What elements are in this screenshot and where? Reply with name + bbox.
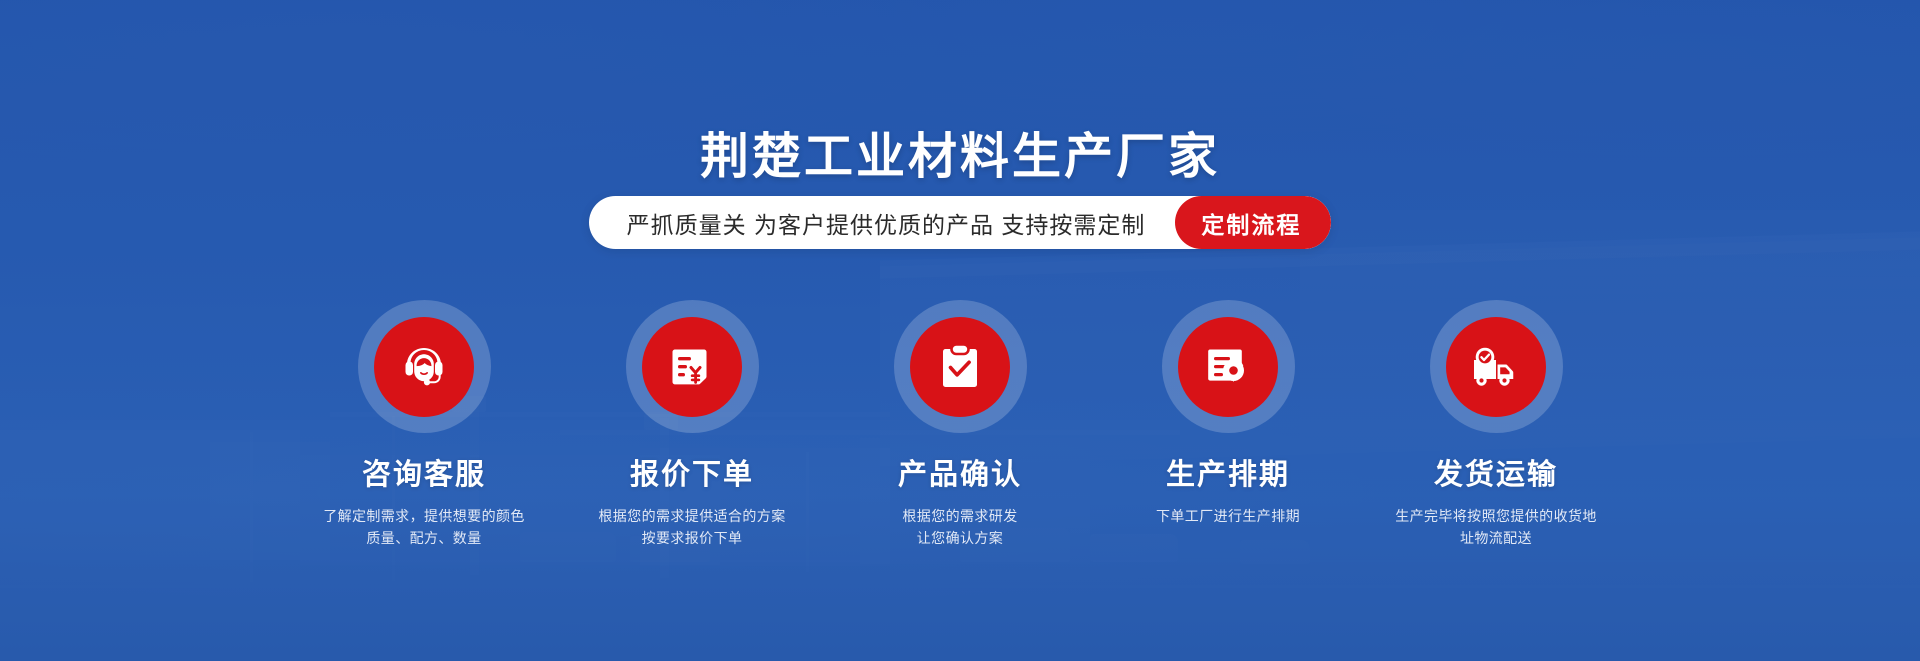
step-item-delivery[interactable]: 发货运输 生产完毕将按照您提供的收货地 址物流配送 xyxy=(1362,300,1630,550)
step-description: 根据您的需求提供适合的方案 按要求报价下单 xyxy=(598,505,785,550)
step-icon-disc xyxy=(642,317,742,417)
step-description-line: 根据您的需求研发 xyxy=(902,505,1017,527)
delivery-truck-check-icon xyxy=(1469,344,1523,390)
custom-process-button[interactable]: 定制流程 xyxy=(1175,196,1331,249)
invoice-yuan-icon xyxy=(667,342,717,392)
step-icon-disc xyxy=(1178,317,1278,417)
step-description: 生产完毕将按照您提供的收货地 址物流配送 xyxy=(1395,505,1597,550)
step-title: 发货运输 xyxy=(1434,460,1558,492)
step-description-line: 根据您的需求提供适合的方案 xyxy=(598,505,785,527)
step-description-line: 生产完毕将按照您提供的收货地 xyxy=(1395,505,1597,527)
step-description: 下单工厂进行生产排期 xyxy=(1156,505,1300,527)
step-item-schedule[interactable]: 生产排期 下单工厂进行生产排期 xyxy=(1094,300,1362,550)
step-icon-ring xyxy=(626,300,759,433)
step-description: 了解定制需求，提供想要的颜色 质量、配方、数量 xyxy=(323,505,525,550)
subtitle-bar-wrapper: 严抓质量关 为客户提供优质的产品 支持按需定制 定制流程 xyxy=(0,196,1920,249)
clipboard-check-icon xyxy=(936,341,984,393)
step-icon-disc xyxy=(374,317,474,417)
subtitle-bar: 严抓质量关 为客户提供优质的产品 支持按需定制 定制流程 xyxy=(589,196,1332,249)
process-steps: 咨询客服 了解定制需求，提供想要的颜色 质量、配方、数量 xyxy=(290,300,1630,550)
step-icon-disc xyxy=(910,317,1010,417)
step-description-line: 让您确认方案 xyxy=(902,527,1017,549)
promo-banner: 荆楚工业材料生产厂家 严抓质量关 为客户提供优质的产品 支持按需定制 定制流程 xyxy=(0,0,1920,661)
step-title: 报价下单 xyxy=(630,460,754,492)
step-item-confirm[interactable]: 产品确认 根据您的需求研发 让您确认方案 xyxy=(826,300,1094,550)
step-icon-ring xyxy=(1430,300,1563,433)
step-icon-disc xyxy=(1446,317,1546,417)
step-description-line: 按要求报价下单 xyxy=(598,527,785,549)
step-title: 产品确认 xyxy=(898,460,1022,492)
step-title: 生产排期 xyxy=(1166,460,1290,492)
banner-content: 荆楚工业材料生产厂家 严抓质量关 为客户提供优质的产品 支持按需定制 定制流程 xyxy=(0,0,1920,661)
subtitle-text: 严抓质量关 为客户提供优质的产品 支持按需定制 xyxy=(589,196,1176,249)
step-description-line: 质量、配方、数量 xyxy=(323,527,525,549)
step-icon-ring xyxy=(1162,300,1295,433)
step-title: 咨询客服 xyxy=(362,460,486,492)
step-item-quote[interactable]: 报价下单 根据您的需求提供适合的方案 按要求报价下单 xyxy=(558,300,826,550)
step-description-line: 址物流配送 xyxy=(1395,527,1597,549)
document-gear-icon xyxy=(1203,342,1253,392)
step-description-line: 下单工厂进行生产排期 xyxy=(1156,505,1300,527)
step-description-line: 了解定制需求，提供想要的颜色 xyxy=(323,505,525,527)
step-icon-ring xyxy=(894,300,1027,433)
headset-support-icon xyxy=(398,341,450,393)
step-description: 根据您的需求研发 让您确认方案 xyxy=(902,505,1017,550)
page-title: 荆楚工业材料生产厂家 xyxy=(0,129,1920,187)
step-item-consult[interactable]: 咨询客服 了解定制需求，提供想要的颜色 质量、配方、数量 xyxy=(290,300,558,550)
step-icon-ring xyxy=(358,300,491,433)
